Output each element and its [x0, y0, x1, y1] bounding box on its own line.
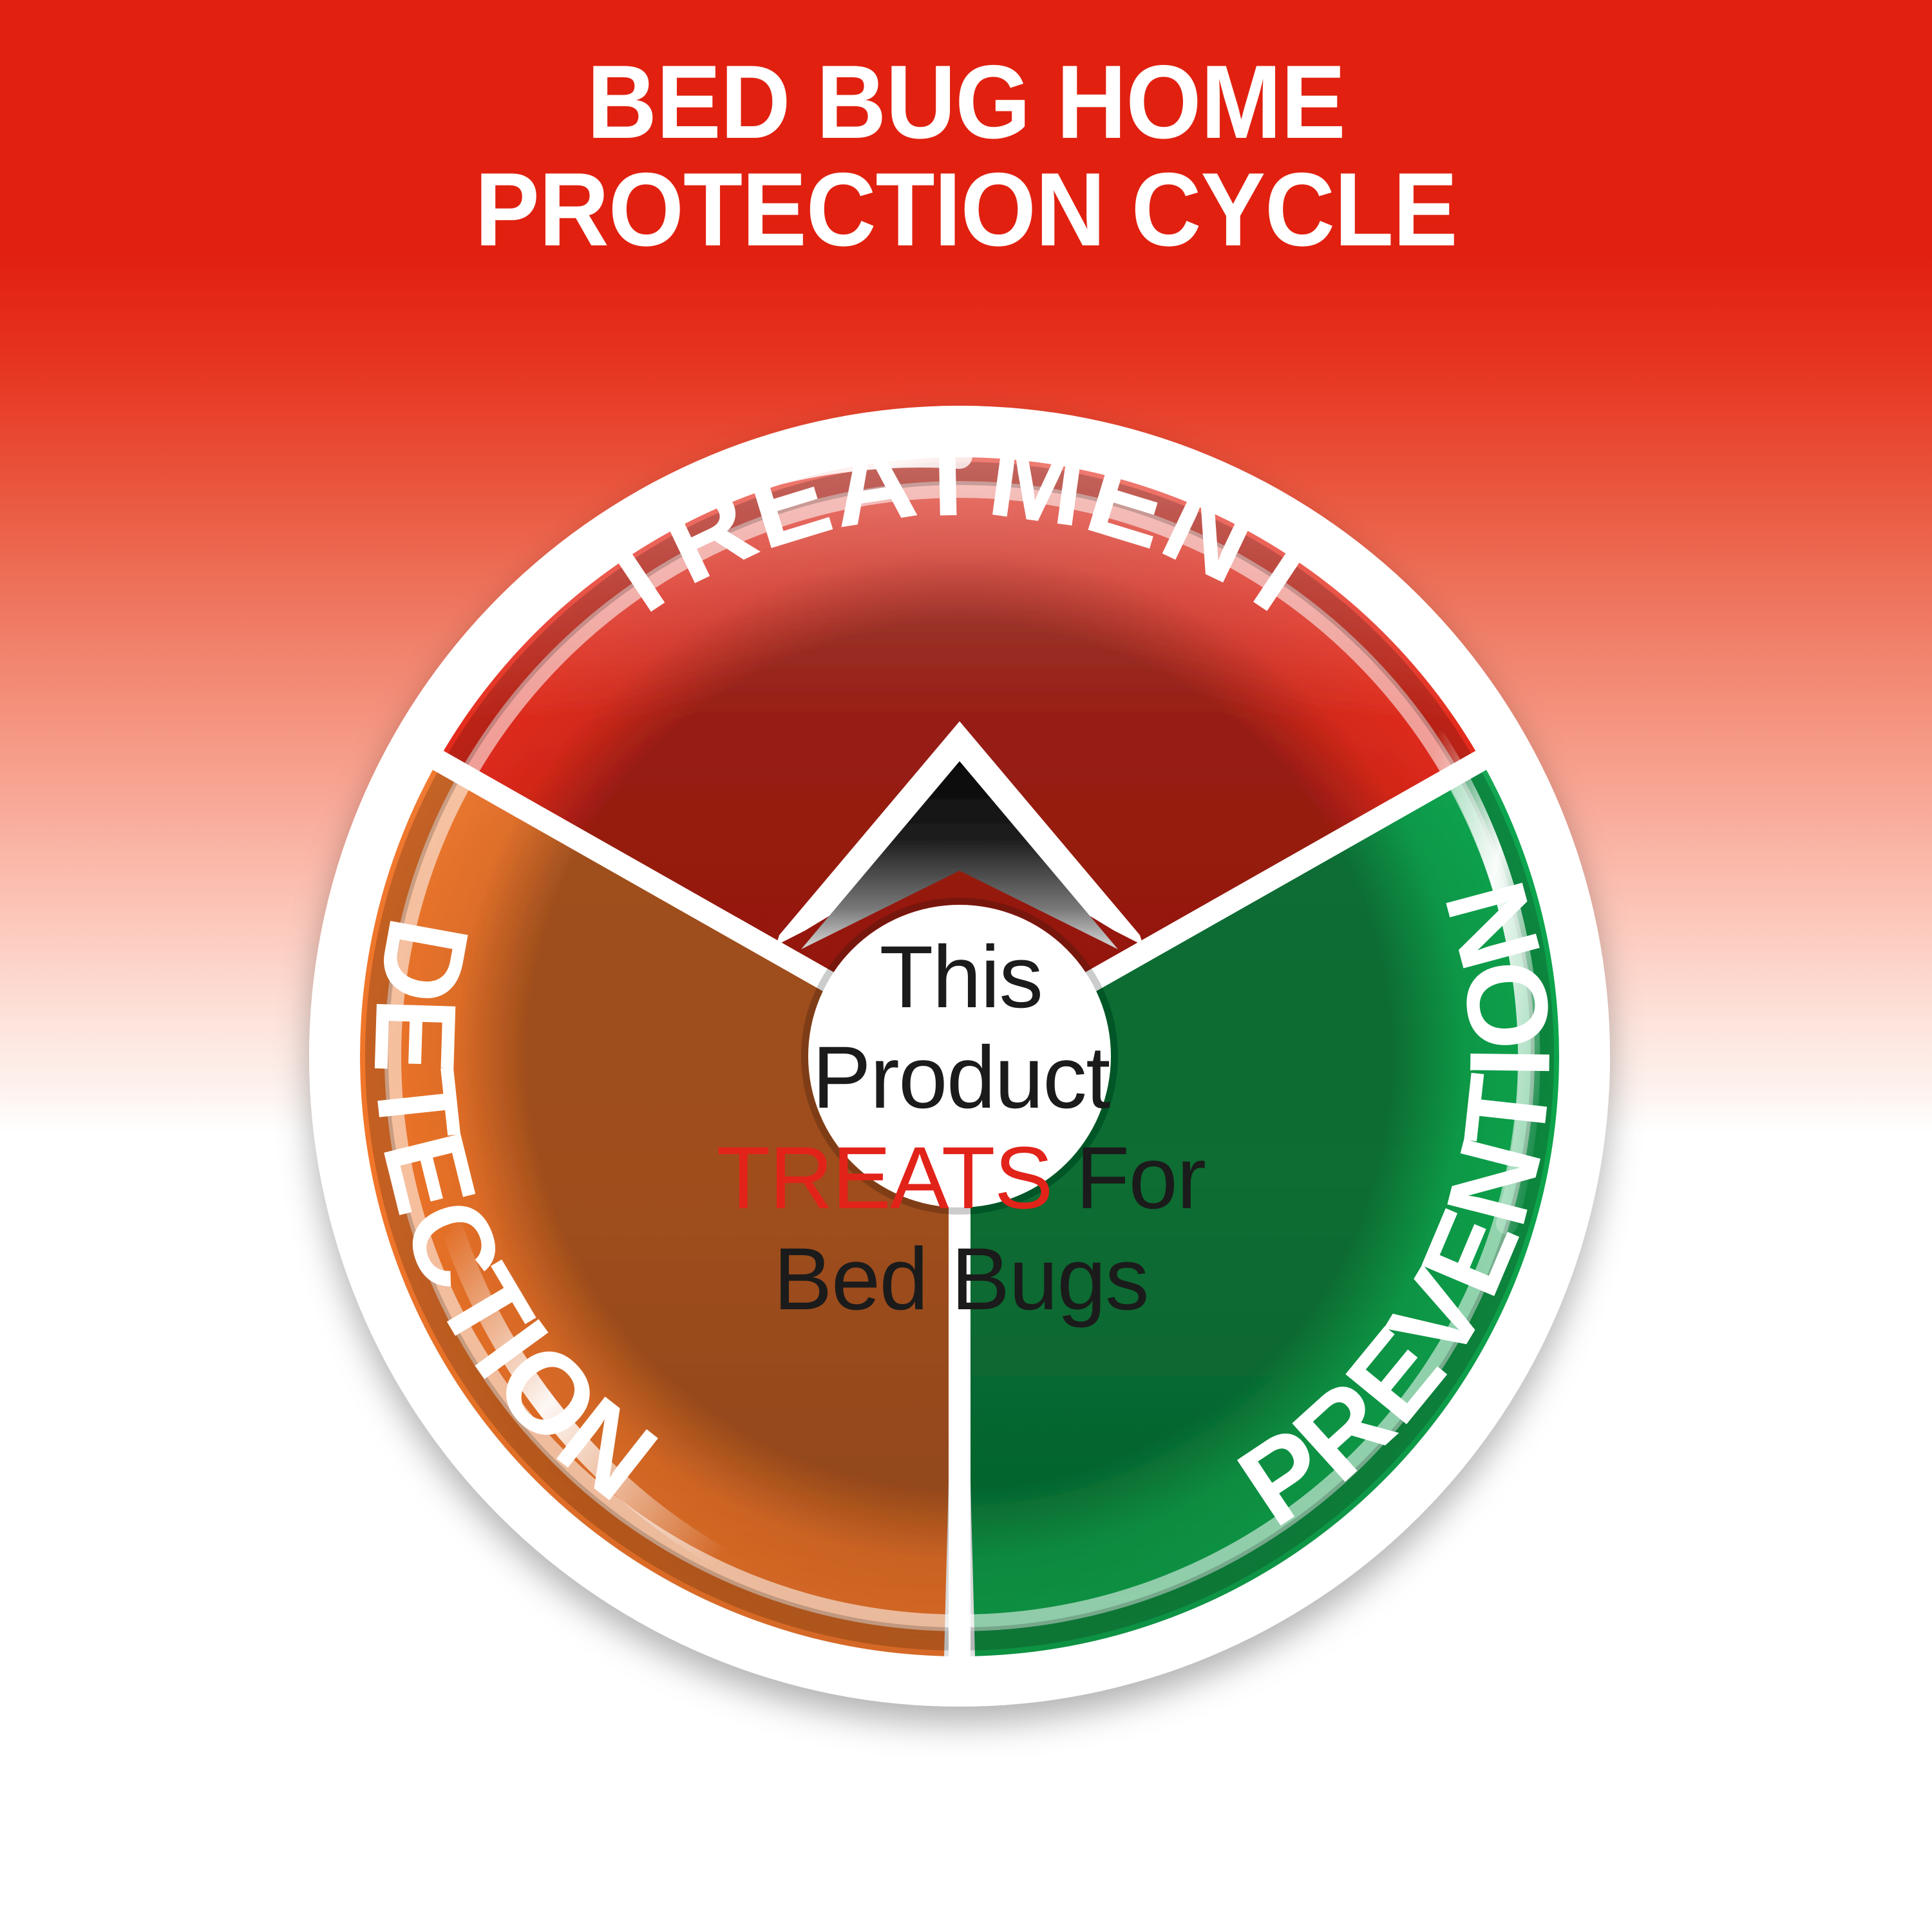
center-line-3-rest: For [1052, 1129, 1206, 1227]
center-hub-text: This Product TREATS For Bed Bugs [665, 927, 1257, 1330]
center-line-2: Product [665, 1028, 1257, 1128]
center-line-3: TREATS For [665, 1128, 1257, 1229]
page-title: BED BUG HOME PROTECTION CYCLE [68, 49, 1864, 264]
center-accent-treats: TREATS [717, 1129, 1052, 1227]
segment-label-prevention: PREVENTION [1217, 867, 1576, 1550]
center-line-1: This [665, 927, 1257, 1028]
center-line-4: Bed Bugs [665, 1229, 1257, 1330]
segment-label-treatment: TREATMENT [571, 411, 1348, 647]
segment-label-detection: DETECTION [350, 909, 681, 1526]
infographic-canvas: BED BUG HOME PROTECTION CYCLE [0, 0, 1932, 1932]
up-chevron-arrow-icon [776, 721, 1143, 949]
